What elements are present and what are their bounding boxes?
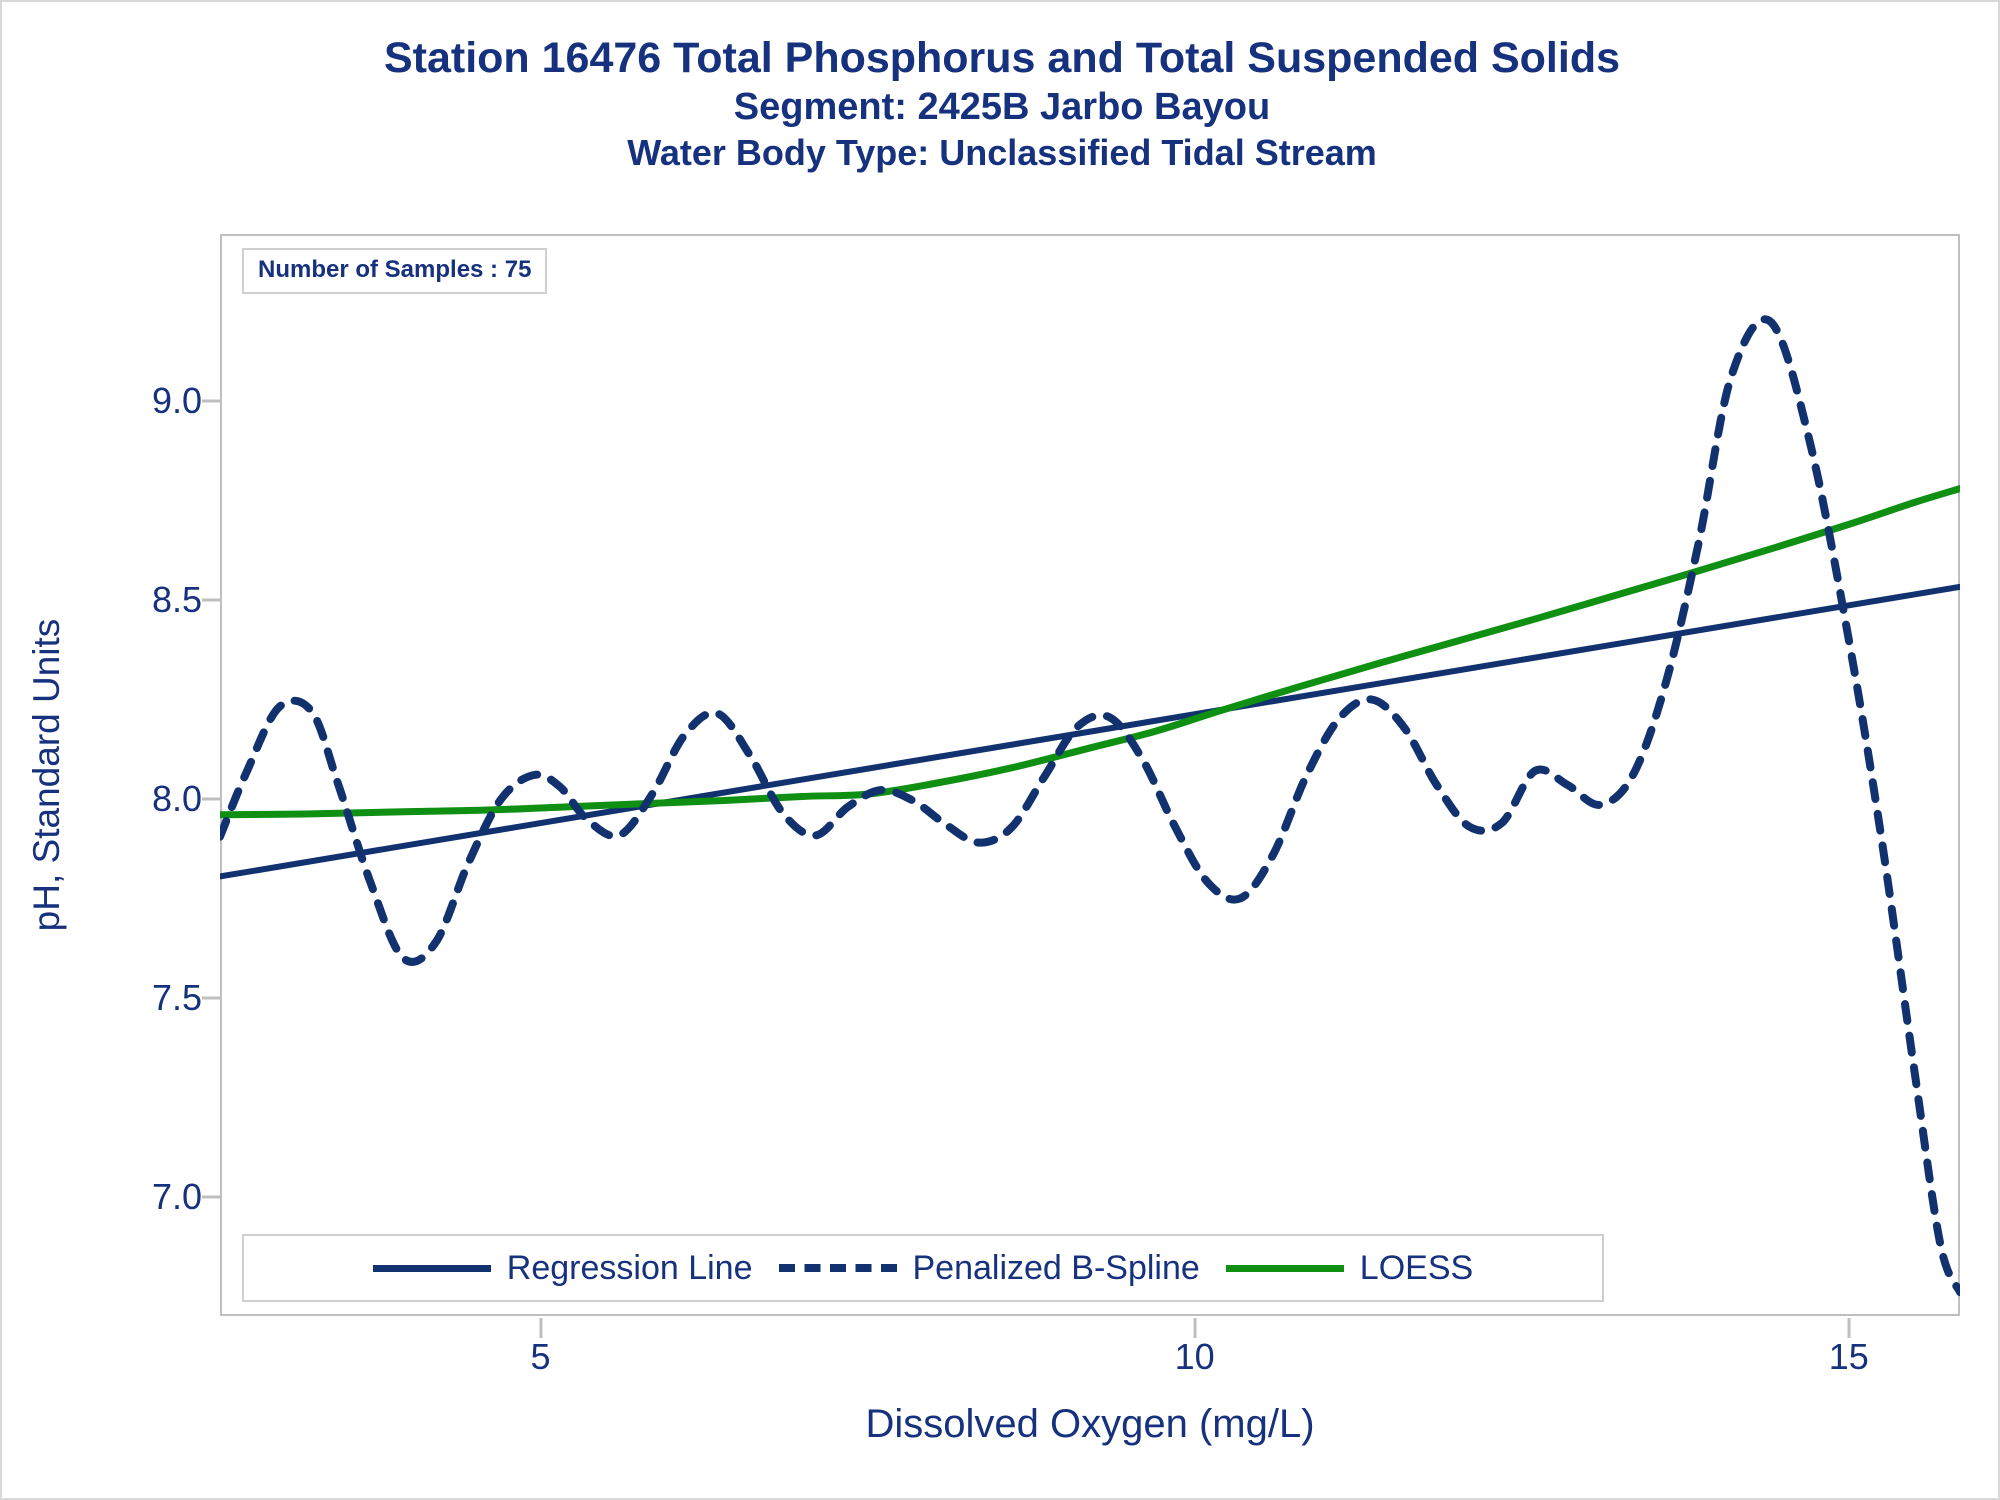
y-tick-label: 9.0 — [152, 380, 202, 422]
legend-swatch-icon — [373, 1265, 491, 1272]
chart-subtitle-waterbody: Water Body Type: Unclassified Tidal Stre… — [2, 131, 2000, 175]
y-tick-mark — [202, 1195, 220, 1198]
y-tick-label: 8.0 — [152, 778, 202, 820]
y-tick-label: 7.5 — [152, 977, 202, 1019]
y-axis-tick-marks — [202, 234, 222, 1316]
chart-subtitle-segment: Segment: 2425B Jarbo Bayou — [2, 84, 2000, 130]
plot-area: Number of Samples : 75 Regression LinePe… — [220, 234, 1960, 1316]
legend-item-label: Penalized B-Spline — [913, 1249, 1200, 1288]
x-tick-label: 15 — [1829, 1336, 1869, 1378]
legend-item-label: LOESS — [1360, 1249, 1473, 1288]
legend-item[interactable]: Penalized B-Spline — [779, 1249, 1200, 1288]
x-tick-mark — [539, 1318, 542, 1338]
y-tick-mark — [202, 598, 220, 601]
sample-count-badge: Number of Samples : 75 — [242, 248, 547, 294]
legend-swatch-icon — [779, 1264, 897, 1272]
x-tick-label: 10 — [1175, 1336, 1215, 1378]
chart-canvas — [220, 234, 1960, 1316]
x-tick-mark — [1193, 1318, 1196, 1338]
y-tick-label: 7.0 — [152, 1176, 202, 1218]
y-axis-title: pH, Standard Units — [12, 234, 82, 1316]
chart-legend: Regression LinePenalized B-SplineLOESS — [242, 1234, 1604, 1302]
y-tick-label: 8.5 — [152, 579, 202, 621]
series-penalized-b-spline — [220, 319, 1960, 1292]
y-tick-mark — [202, 797, 220, 800]
y-axis-tick-labels: 7.07.58.08.59.0 — [122, 234, 202, 1316]
x-axis-tick-labels: 51015 — [220, 1318, 1960, 1378]
legend-item[interactable]: LOESS — [1226, 1249, 1473, 1288]
legend-swatch-icon — [1226, 1265, 1344, 1272]
y-tick-mark — [202, 996, 220, 999]
page-title: Station 16476 Total Phosphorus and Total… — [2, 32, 2000, 84]
legend-item[interactable]: Regression Line — [373, 1249, 753, 1288]
x-tick-mark — [1847, 1318, 1850, 1338]
series-loess — [220, 489, 1960, 815]
y-tick-mark — [202, 400, 220, 403]
x-tick-label: 5 — [531, 1336, 551, 1378]
x-axis-title: Dissolved Oxygen (mg/L) — [220, 1402, 1960, 1447]
chart-figure: Station 16476 Total Phosphorus and Total… — [0, 0, 2000, 1500]
legend-item-label: Regression Line — [507, 1249, 753, 1288]
chart-title-block: Station 16476 Total Phosphorus and Total… — [2, 32, 2000, 175]
